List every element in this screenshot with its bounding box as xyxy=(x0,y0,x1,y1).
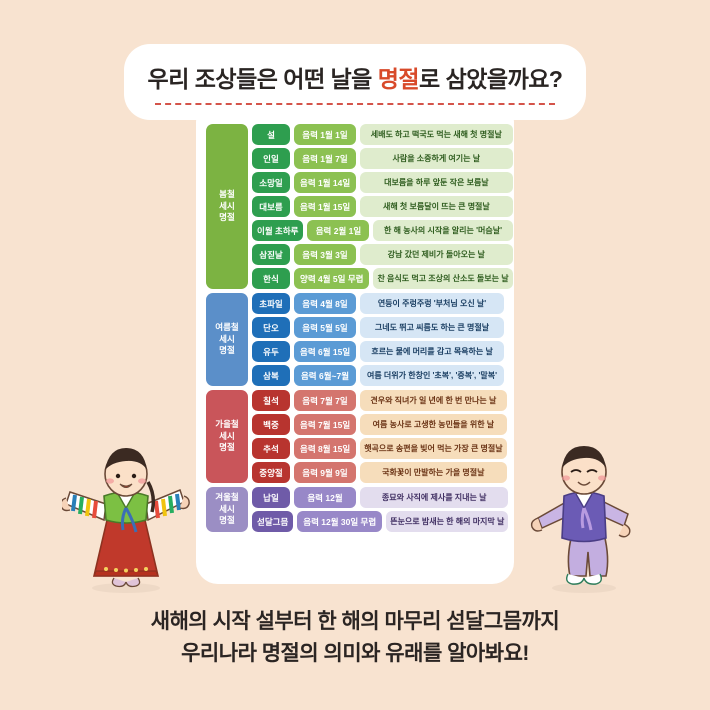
table-row[interactable]: 대보름음력 1월 15일새해 첫 보름달이 뜨는 큰 명절날 xyxy=(252,196,513,217)
season-block-spring: 봄철세시명절설음력 1월 1일세배도 하고 떡국도 먹는 새해 첫 명절날인일음… xyxy=(206,124,504,289)
holiday-description: 한 해 농사의 시작을 알리는 '머슴날' xyxy=(373,220,512,241)
holiday-name: 섣달그믐 xyxy=(252,511,293,532)
season-label-spring: 봄철세시명절 xyxy=(206,124,248,289)
holiday-description: 대보름을 하루 앞둔 작은 보름날 xyxy=(360,172,512,193)
title-divider xyxy=(155,103,555,105)
season-block-autumn: 가을철세시명절칠석음력 7월 7일견우와 직녀가 일 년에 한 번 만나는 날백… xyxy=(206,390,504,483)
holiday-name: 삼짇날 xyxy=(252,244,290,265)
holiday-date: 음력 7월 15일 xyxy=(294,414,356,435)
table-row[interactable]: 유두음력 6월 15일흐르는 물에 머리를 감고 목욕하는 날 xyxy=(252,341,504,362)
holiday-date: 음력 9월 9일 xyxy=(294,462,356,483)
holiday-name: 이월 초하루 xyxy=(252,220,303,241)
holiday-name: 납일 xyxy=(252,487,290,508)
table-row[interactable]: 칠석음력 7월 7일견우와 직녀가 일 년에 한 번 만나는 날 xyxy=(252,390,507,411)
holiday-name: 추석 xyxy=(252,438,290,459)
season-label-autumn: 가을철세시명절 xyxy=(206,390,248,483)
holiday-name: 유두 xyxy=(252,341,290,362)
table-row[interactable]: 초파일음력 4월 8일연등이 주렁주렁 '부처님 오신 날' xyxy=(252,293,504,314)
holiday-name: 단오 xyxy=(252,317,290,338)
season-rows-autumn: 칠석음력 7월 7일견우와 직녀가 일 년에 한 번 만나는 날백중음력 7월 … xyxy=(252,390,507,483)
holiday-name: 초파일 xyxy=(252,293,290,314)
season-label-line: 봄철 xyxy=(219,189,235,200)
bottom-caption: 새해의 시작 설부터 한 해의 마무리 섣달그믐까지 우리나라 명절의 의미와 … xyxy=(0,606,710,669)
table-row[interactable]: 백중음력 7월 15일여름 농사로 고생한 농민들을 위한 날 xyxy=(252,414,507,435)
season-block-summer: 여름철세시명절초파일음력 4월 8일연등이 주렁주렁 '부처님 오신 날'단오음… xyxy=(206,293,504,386)
holiday-date: 음력 7월 7일 xyxy=(294,390,356,411)
season-label-line: 명절 xyxy=(219,442,235,453)
boy-hanbok-illustration xyxy=(520,438,648,596)
holiday-description: 세배도 하고 떡국도 먹는 새해 첫 명절날 xyxy=(360,124,513,145)
holiday-date: 음력 3월 3일 xyxy=(294,244,356,265)
holiday-date: 음력 1월 7일 xyxy=(294,148,356,169)
girl-hanbok-illustration xyxy=(62,438,190,596)
holiday-description: 국화꽃이 만발하는 가을 명절날 xyxy=(360,462,507,483)
holiday-description: 연등이 주렁주렁 '부처님 오신 날' xyxy=(360,293,504,314)
holiday-date: 음력 1월 1일 xyxy=(294,124,356,145)
season-label-line: 겨울철 xyxy=(215,492,238,503)
title-card: 우리 조상들은 어떤 날을 명절로 삼았을까요? xyxy=(124,44,586,120)
holiday-date: 음력 6월~7월 xyxy=(294,365,356,386)
holiday-table-panel: 봄철세시명절설음력 1월 1일세배도 하고 떡국도 먹는 새해 첫 명절날인일음… xyxy=(196,100,514,584)
season-label-line: 세시 xyxy=(219,201,235,212)
season-label-line: 가을철 xyxy=(215,419,238,430)
holiday-description: 종묘와 사직에 제사를 지내는 날 xyxy=(360,487,508,508)
holiday-description: 새해 첫 보름달이 뜨는 큰 명절날 xyxy=(360,196,512,217)
season-label-line: 세시 xyxy=(219,504,235,515)
table-row[interactable]: 섣달그믐음력 12월 30일 무렵뜬눈으로 밤새는 한 해의 마지막 날 xyxy=(252,511,508,532)
season-rows-winter: 납일음력 12월종묘와 사직에 제사를 지내는 날섣달그믐음력 12월 30일 … xyxy=(252,487,508,532)
holiday-description: 뜬눈으로 밤새는 한 해의 마지막 날 xyxy=(386,511,508,532)
table-row[interactable]: 삼복음력 6월~7월여름 더위가 한창인 '초복', '중복', '말복' xyxy=(252,365,504,386)
table-row[interactable]: 삼짇날음력 3월 3일강남 갔던 제비가 돌아오는 날 xyxy=(252,244,513,265)
holiday-name: 백중 xyxy=(252,414,290,435)
season-rows-spring: 설음력 1월 1일세배도 하고 떡국도 먹는 새해 첫 명절날인일음력 1월 7… xyxy=(252,124,513,289)
holiday-name: 삼복 xyxy=(252,365,290,386)
holiday-name: 인일 xyxy=(252,148,290,169)
holiday-date: 음력 8월 15일 xyxy=(294,438,356,459)
season-label-winter: 겨울철세시명절 xyxy=(206,487,248,532)
holiday-description: 강남 갔던 제비가 돌아오는 날 xyxy=(360,244,513,265)
table-row[interactable]: 추석음력 8월 15일햇곡으로 송편을 빚어 먹는 가장 큰 명절날 xyxy=(252,438,507,459)
season-label-line: 명절 xyxy=(219,345,235,356)
holiday-date: 음력 12월 30일 무렵 xyxy=(297,511,382,532)
table-row[interactable]: 설음력 1월 1일세배도 하고 떡국도 먹는 새해 첫 명절날 xyxy=(252,124,513,145)
season-label-line: 명절 xyxy=(219,515,235,526)
holiday-description: 여름 더위가 한창인 '초복', '중복', '말복' xyxy=(360,365,504,386)
holiday-date: 음력 1월 14일 xyxy=(294,172,356,193)
table-row[interactable]: 단오음력 5월 5일그네도 뛰고 씨름도 하는 큰 명절날 xyxy=(252,317,504,338)
holiday-description: 흐르는 물에 머리를 감고 목욕하는 날 xyxy=(360,341,504,362)
caption-line-1: 새해의 시작 설부터 한 해의 마무리 섣달그믐까지 xyxy=(0,606,710,638)
season-rows-summer: 초파일음력 4월 8일연등이 주렁주렁 '부처님 오신 날'단오음력 5월 5일… xyxy=(252,293,504,386)
holiday-description: 찬 음식도 먹고 조상의 산소도 돌보는 날 xyxy=(373,268,512,289)
holiday-description: 햇곡으로 송편을 빚어 먹는 가장 큰 명절날 xyxy=(360,438,506,459)
holiday-date: 음력 6월 15일 xyxy=(294,341,356,362)
holiday-date: 양력 4월 5일 무렵 xyxy=(294,268,369,289)
holiday-name: 대보름 xyxy=(252,196,290,217)
holiday-date: 음력 1월 15일 xyxy=(294,196,356,217)
holiday-name: 소망일 xyxy=(252,172,290,193)
holiday-description: 여름 농사로 고생한 농민들을 위한 날 xyxy=(360,414,506,435)
table-row[interactable]: 소망일음력 1월 14일대보름을 하루 앞둔 작은 보름날 xyxy=(252,172,513,193)
holiday-name: 설 xyxy=(252,124,290,145)
title-suffix: 로 삼았을까요? xyxy=(419,66,562,92)
table-row[interactable]: 중양절음력 9월 9일국화꽃이 만발하는 가을 명절날 xyxy=(252,462,507,483)
season-label-summer: 여름철세시명절 xyxy=(206,293,248,386)
holiday-name: 칠석 xyxy=(252,390,290,411)
holiday-date: 음력 4월 8일 xyxy=(294,293,356,314)
table-row[interactable]: 납일음력 12월종묘와 사직에 제사를 지내는 날 xyxy=(252,487,508,508)
holiday-description: 견우와 직녀가 일 년에 한 번 만나는 날 xyxy=(360,390,507,411)
title-highlight: 명절 xyxy=(378,66,419,92)
holiday-name: 한식 xyxy=(252,268,290,289)
table-row[interactable]: 인일음력 1월 7일사람을 소중하게 여기는 날 xyxy=(252,148,513,169)
caption-line-2: 우리나라 명절의 의미와 유래를 알아봐요! xyxy=(0,638,710,670)
season-label-line: 세시 xyxy=(219,431,235,442)
season-label-line: 여름철 xyxy=(215,322,238,333)
holiday-date: 음력 5월 5일 xyxy=(294,317,356,338)
holiday-date: 음력 12월 xyxy=(294,487,356,508)
table-row[interactable]: 이월 초하루음력 2월 1일한 해 농사의 시작을 알리는 '머슴날' xyxy=(252,220,513,241)
title-prefix: 우리 조상들은 어떤 날을 xyxy=(148,66,378,92)
holiday-name: 중양절 xyxy=(252,462,290,483)
season-block-winter: 겨울철세시명절납일음력 12월종묘와 사직에 제사를 지내는 날섣달그믐음력 1… xyxy=(206,487,504,532)
holiday-description: 그네도 뛰고 씨름도 하는 큰 명절날 xyxy=(360,317,504,338)
season-label-line: 명절 xyxy=(219,212,235,223)
holiday-date: 음력 2월 1일 xyxy=(307,220,369,241)
season-label-line: 세시 xyxy=(219,334,235,345)
table-row[interactable]: 한식양력 4월 5일 무렵찬 음식도 먹고 조상의 산소도 돌보는 날 xyxy=(252,268,513,289)
page-title: 우리 조상들은 어떤 날을 명절로 삼았을까요? xyxy=(148,60,563,94)
holiday-description: 사람을 소중하게 여기는 날 xyxy=(360,148,513,169)
